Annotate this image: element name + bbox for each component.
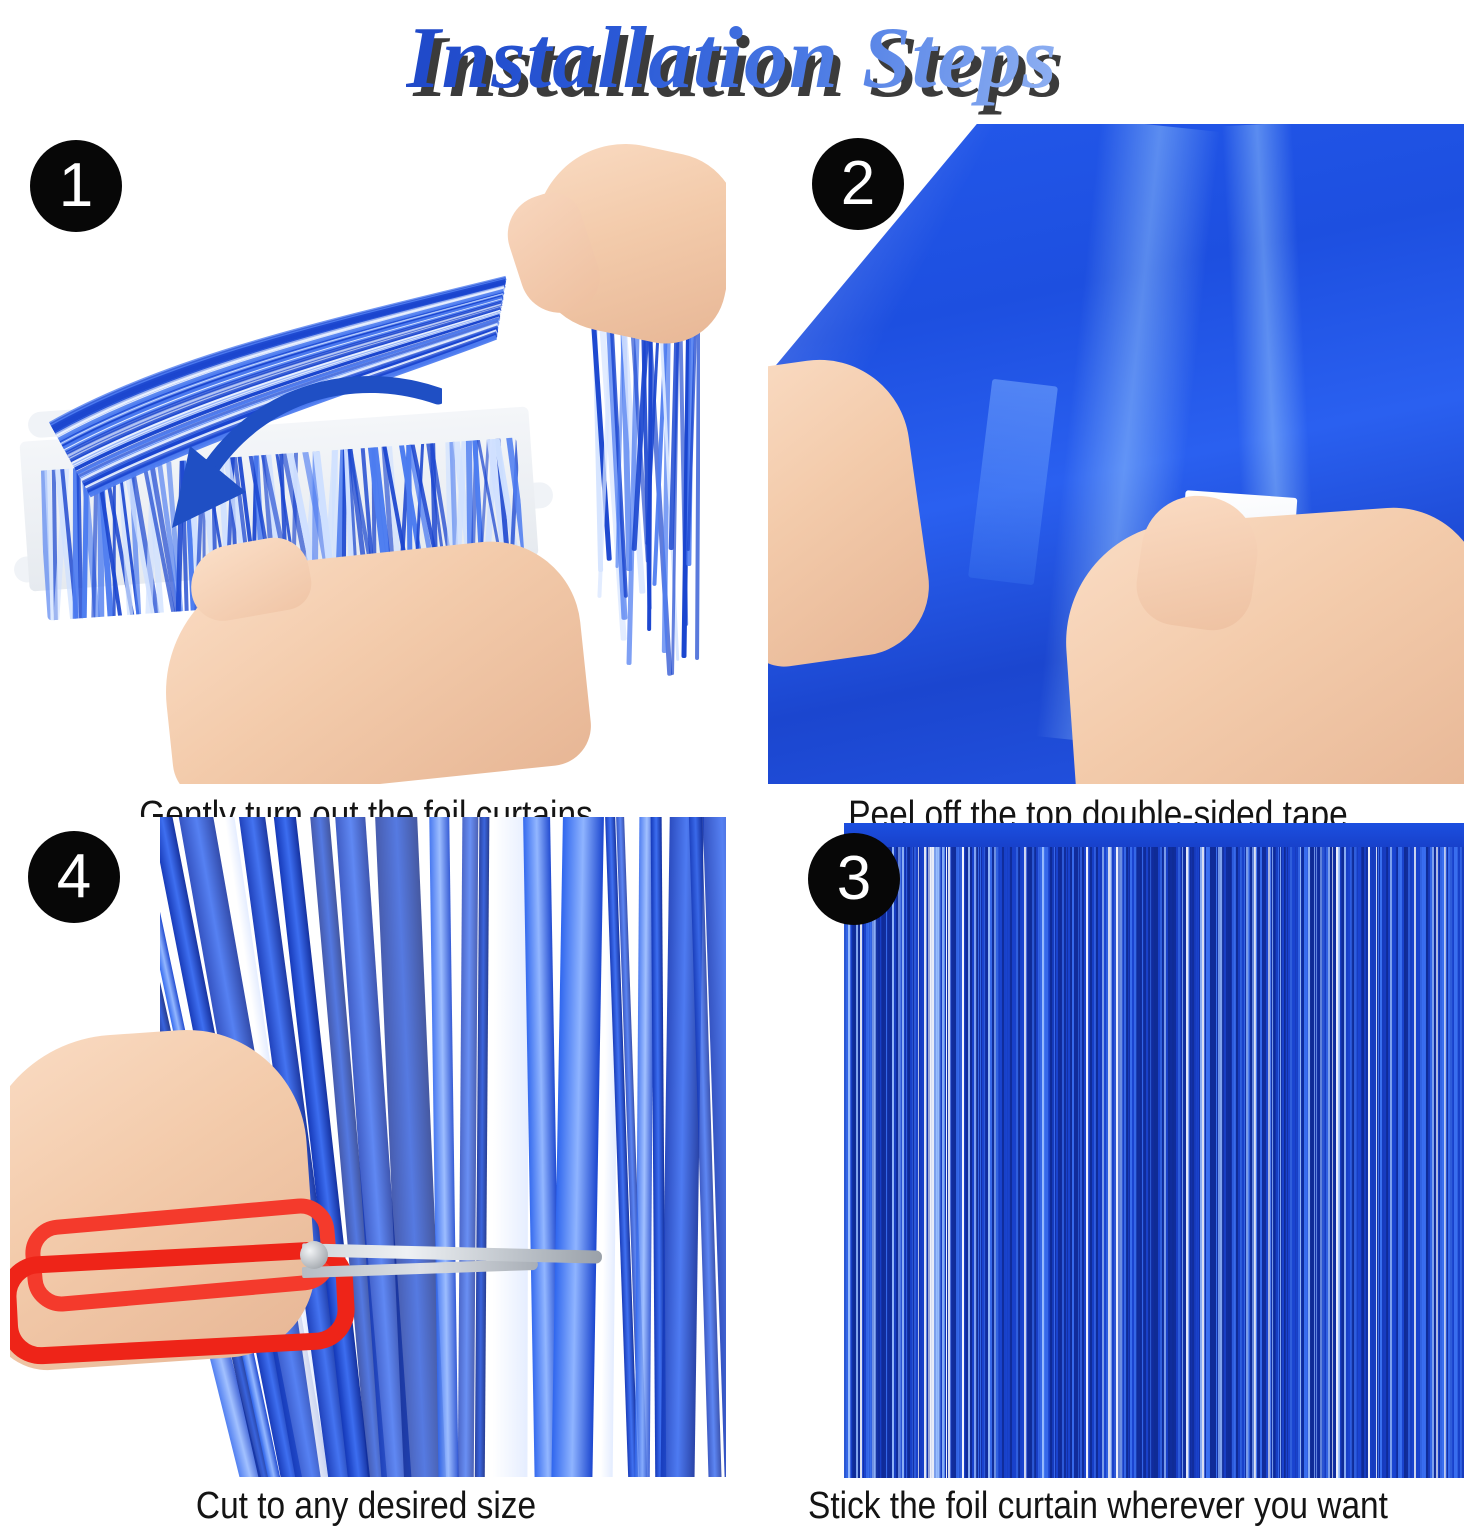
step-caption-4: Cut to any desired size — [44, 1485, 688, 1528]
step-panel-3: 3 Stick the foil curtain wherever you wa… — [732, 809, 1464, 1500]
step-badge-2: 2 — [812, 138, 904, 230]
scissors-pivot-icon — [300, 1241, 328, 1269]
hand-right-icon — [1058, 502, 1464, 784]
page-title: Installation Steps Installation Steps — [0, 0, 1464, 118]
steps-grid: 1 Gently turn out the foil curtains 2 Pe… — [0, 118, 1464, 1500]
step-4-image — [10, 817, 726, 1477]
step-panel-4: 4 Cut to any desired size — [0, 809, 732, 1500]
step-badge-1: 1 — [30, 140, 122, 232]
hanging-foil-strands — [590, 294, 700, 694]
step-panel-1: 1 Gently turn out the foil curtains — [0, 118, 732, 809]
step-panel-2: 2 Peel off the top double-sided tape — [732, 118, 1464, 809]
step-badge-4: 4 — [28, 831, 120, 923]
title-stack: Installation Steps Installation Steps — [406, 11, 1057, 107]
step-1-image — [14, 124, 726, 784]
curtain-top-bar — [844, 823, 1464, 849]
step-3-image — [844, 823, 1464, 1478]
step-caption-3: Stick the foil curtain wherever you want — [776, 1485, 1420, 1528]
page-title-text: Installation Steps — [406, 10, 1057, 107]
tinsel-fringe-curtain — [844, 847, 1464, 1478]
curved-arrow-down-left-icon — [142, 360, 442, 560]
step-badge-3: 3 — [808, 833, 900, 925]
